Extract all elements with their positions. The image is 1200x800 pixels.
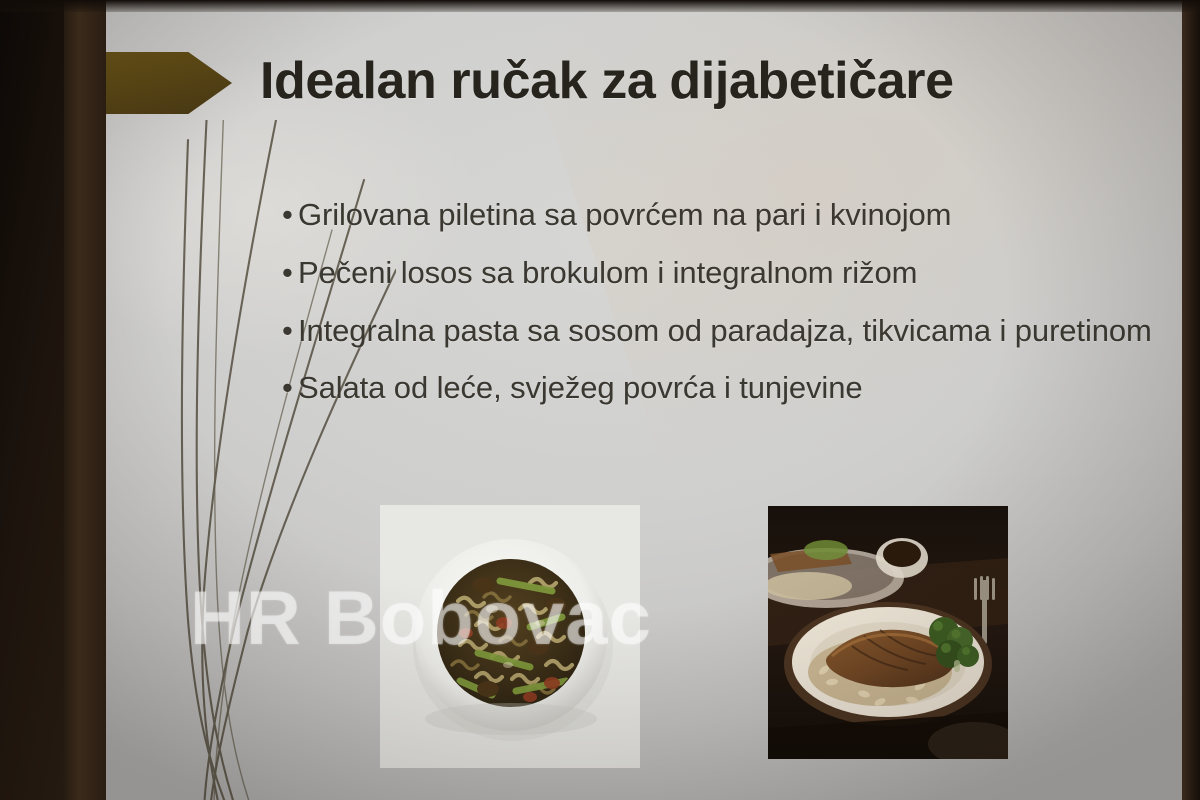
page-title: Idealan ručak za dijabetičare — [260, 52, 1140, 110]
wall-shadow-band — [62, 0, 106, 800]
list-item: • Salata od leće, svježeg povrća i tunje… — [282, 369, 1182, 407]
title-arrow-banner — [96, 52, 232, 114]
pasta-salad-photo — [380, 505, 640, 768]
list-item: • Pečeni losos sa brokulom i integralnom… — [282, 254, 1182, 292]
wall-right-dark — [1182, 0, 1200, 800]
list-item: • Integralna pasta sa sosom od paradajza… — [282, 312, 1182, 350]
bullet-dot-icon: • — [282, 369, 298, 407]
wall-left-dark — [0, 0, 64, 800]
list-item-label: Salata od leće, svježeg povrća i tunjevi… — [298, 369, 1182, 407]
projected-slide-photo: Idealan ručak za dijabetičare • Grilovan… — [0, 0, 1200, 800]
bullet-list: • Grilovana piletina sa povrćem na pari … — [282, 196, 1182, 427]
salmon-rice-broccoli-photo — [768, 506, 1008, 759]
bullet-dot-icon: • — [282, 254, 298, 292]
bullet-dot-icon: • — [282, 196, 298, 234]
bullet-dot-icon: • — [282, 312, 298, 350]
presentation-slide: Idealan ručak za dijabetičare • Grilovan… — [96, 0, 1188, 800]
list-item-label: Pečeni losos sa brokulom i integralnom r… — [298, 254, 1182, 292]
list-item: • Grilovana piletina sa povrćem na pari … — [282, 196, 1182, 234]
list-item-label: Integralna pasta sa sosom od paradajza, … — [298, 312, 1182, 350]
list-item-label: Grilovana piletina sa povrćem na pari i … — [298, 196, 1182, 234]
